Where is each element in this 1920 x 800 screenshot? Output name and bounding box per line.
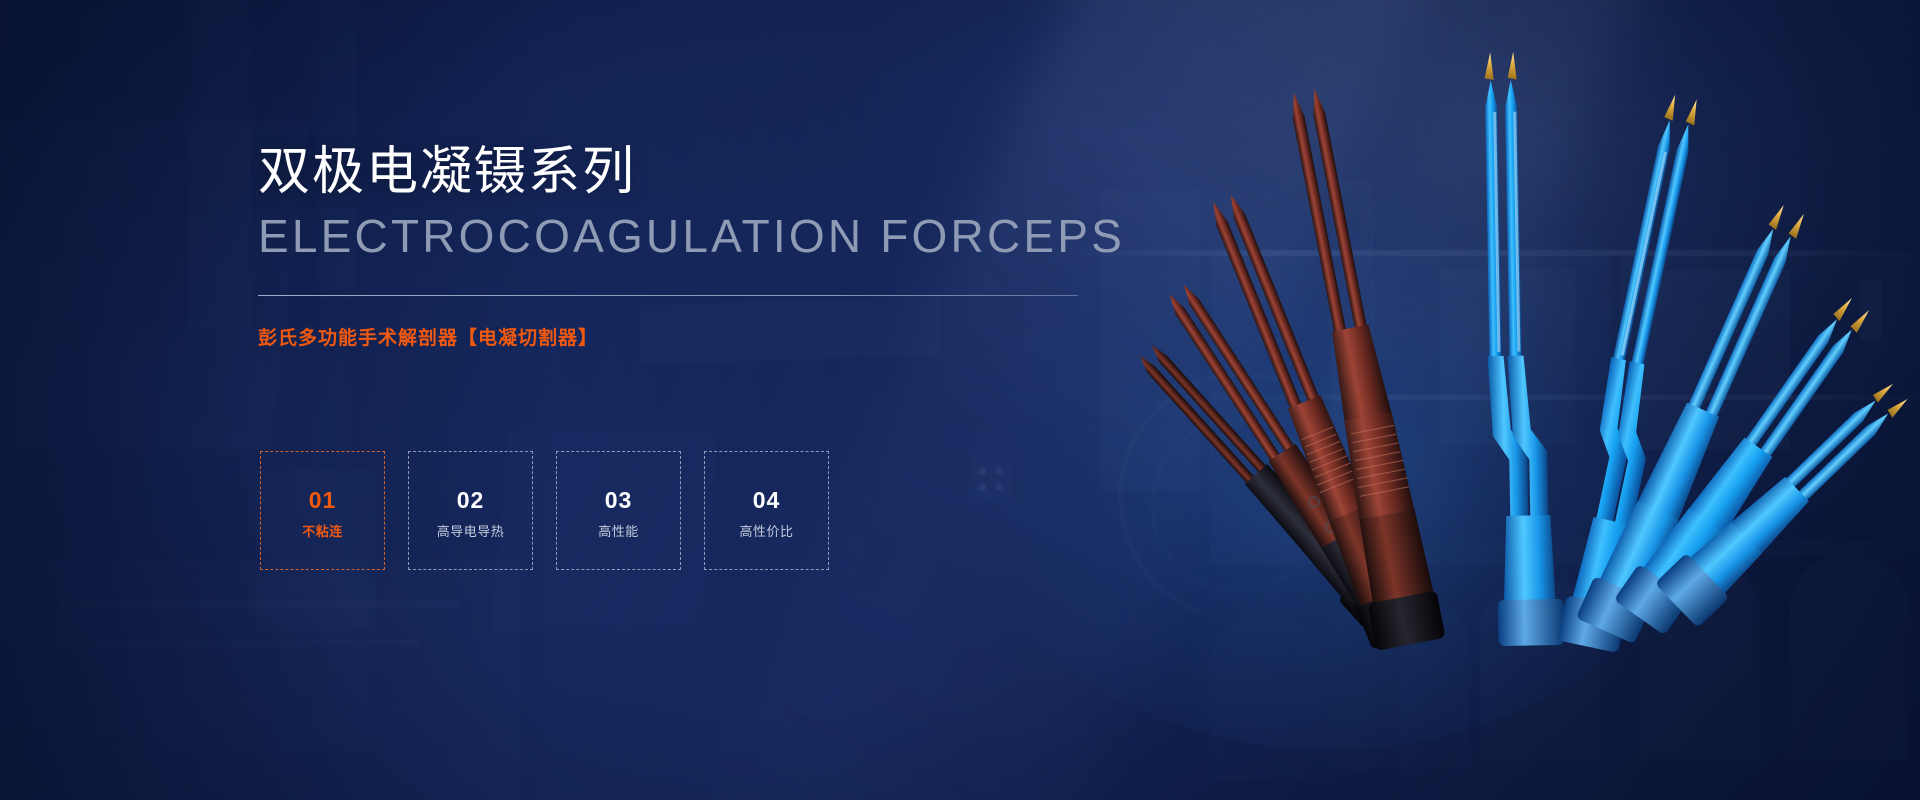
- page-title: 双极电凝镊系列: [258, 143, 636, 201]
- product-banner: 双极电凝镊系列 ELECTROCOAGULATION FORCEPS 彭氏多功能…: [0, 0, 1920, 800]
- product-tagline: 彭氏多功能手术解剖器【电凝切割器】: [258, 325, 598, 353]
- feature-number: 02: [457, 486, 485, 514]
- feature-number: 03: [605, 486, 633, 514]
- feature-number: 01: [309, 486, 337, 514]
- feature-label: 高性价比: [739, 523, 793, 541]
- feature-label: 高导电导热: [437, 523, 505, 541]
- feature-label: 高性能: [598, 523, 639, 541]
- divider: [258, 295, 1078, 296]
- feature-item-01[interactable]: 01 不粘连: [260, 451, 385, 570]
- banner-content: 双极电凝镊系列 ELECTROCOAGULATION FORCEPS 彭氏多功能…: [258, 0, 1118, 800]
- feature-item-02[interactable]: 02 高导电导热: [408, 451, 533, 570]
- feature-item-04[interactable]: 04 高性价比: [704, 451, 829, 570]
- feature-list: 01 不粘连 02 高导电导热 03 高性能 04 高性价比: [260, 451, 829, 570]
- feature-number: 04: [753, 486, 781, 514]
- page-subtitle-en: ELECTROCOAGULATION FORCEPS: [258, 208, 1125, 264]
- feature-item-03[interactable]: 03 高性能: [556, 451, 681, 570]
- feature-label: 不粘连: [302, 523, 343, 541]
